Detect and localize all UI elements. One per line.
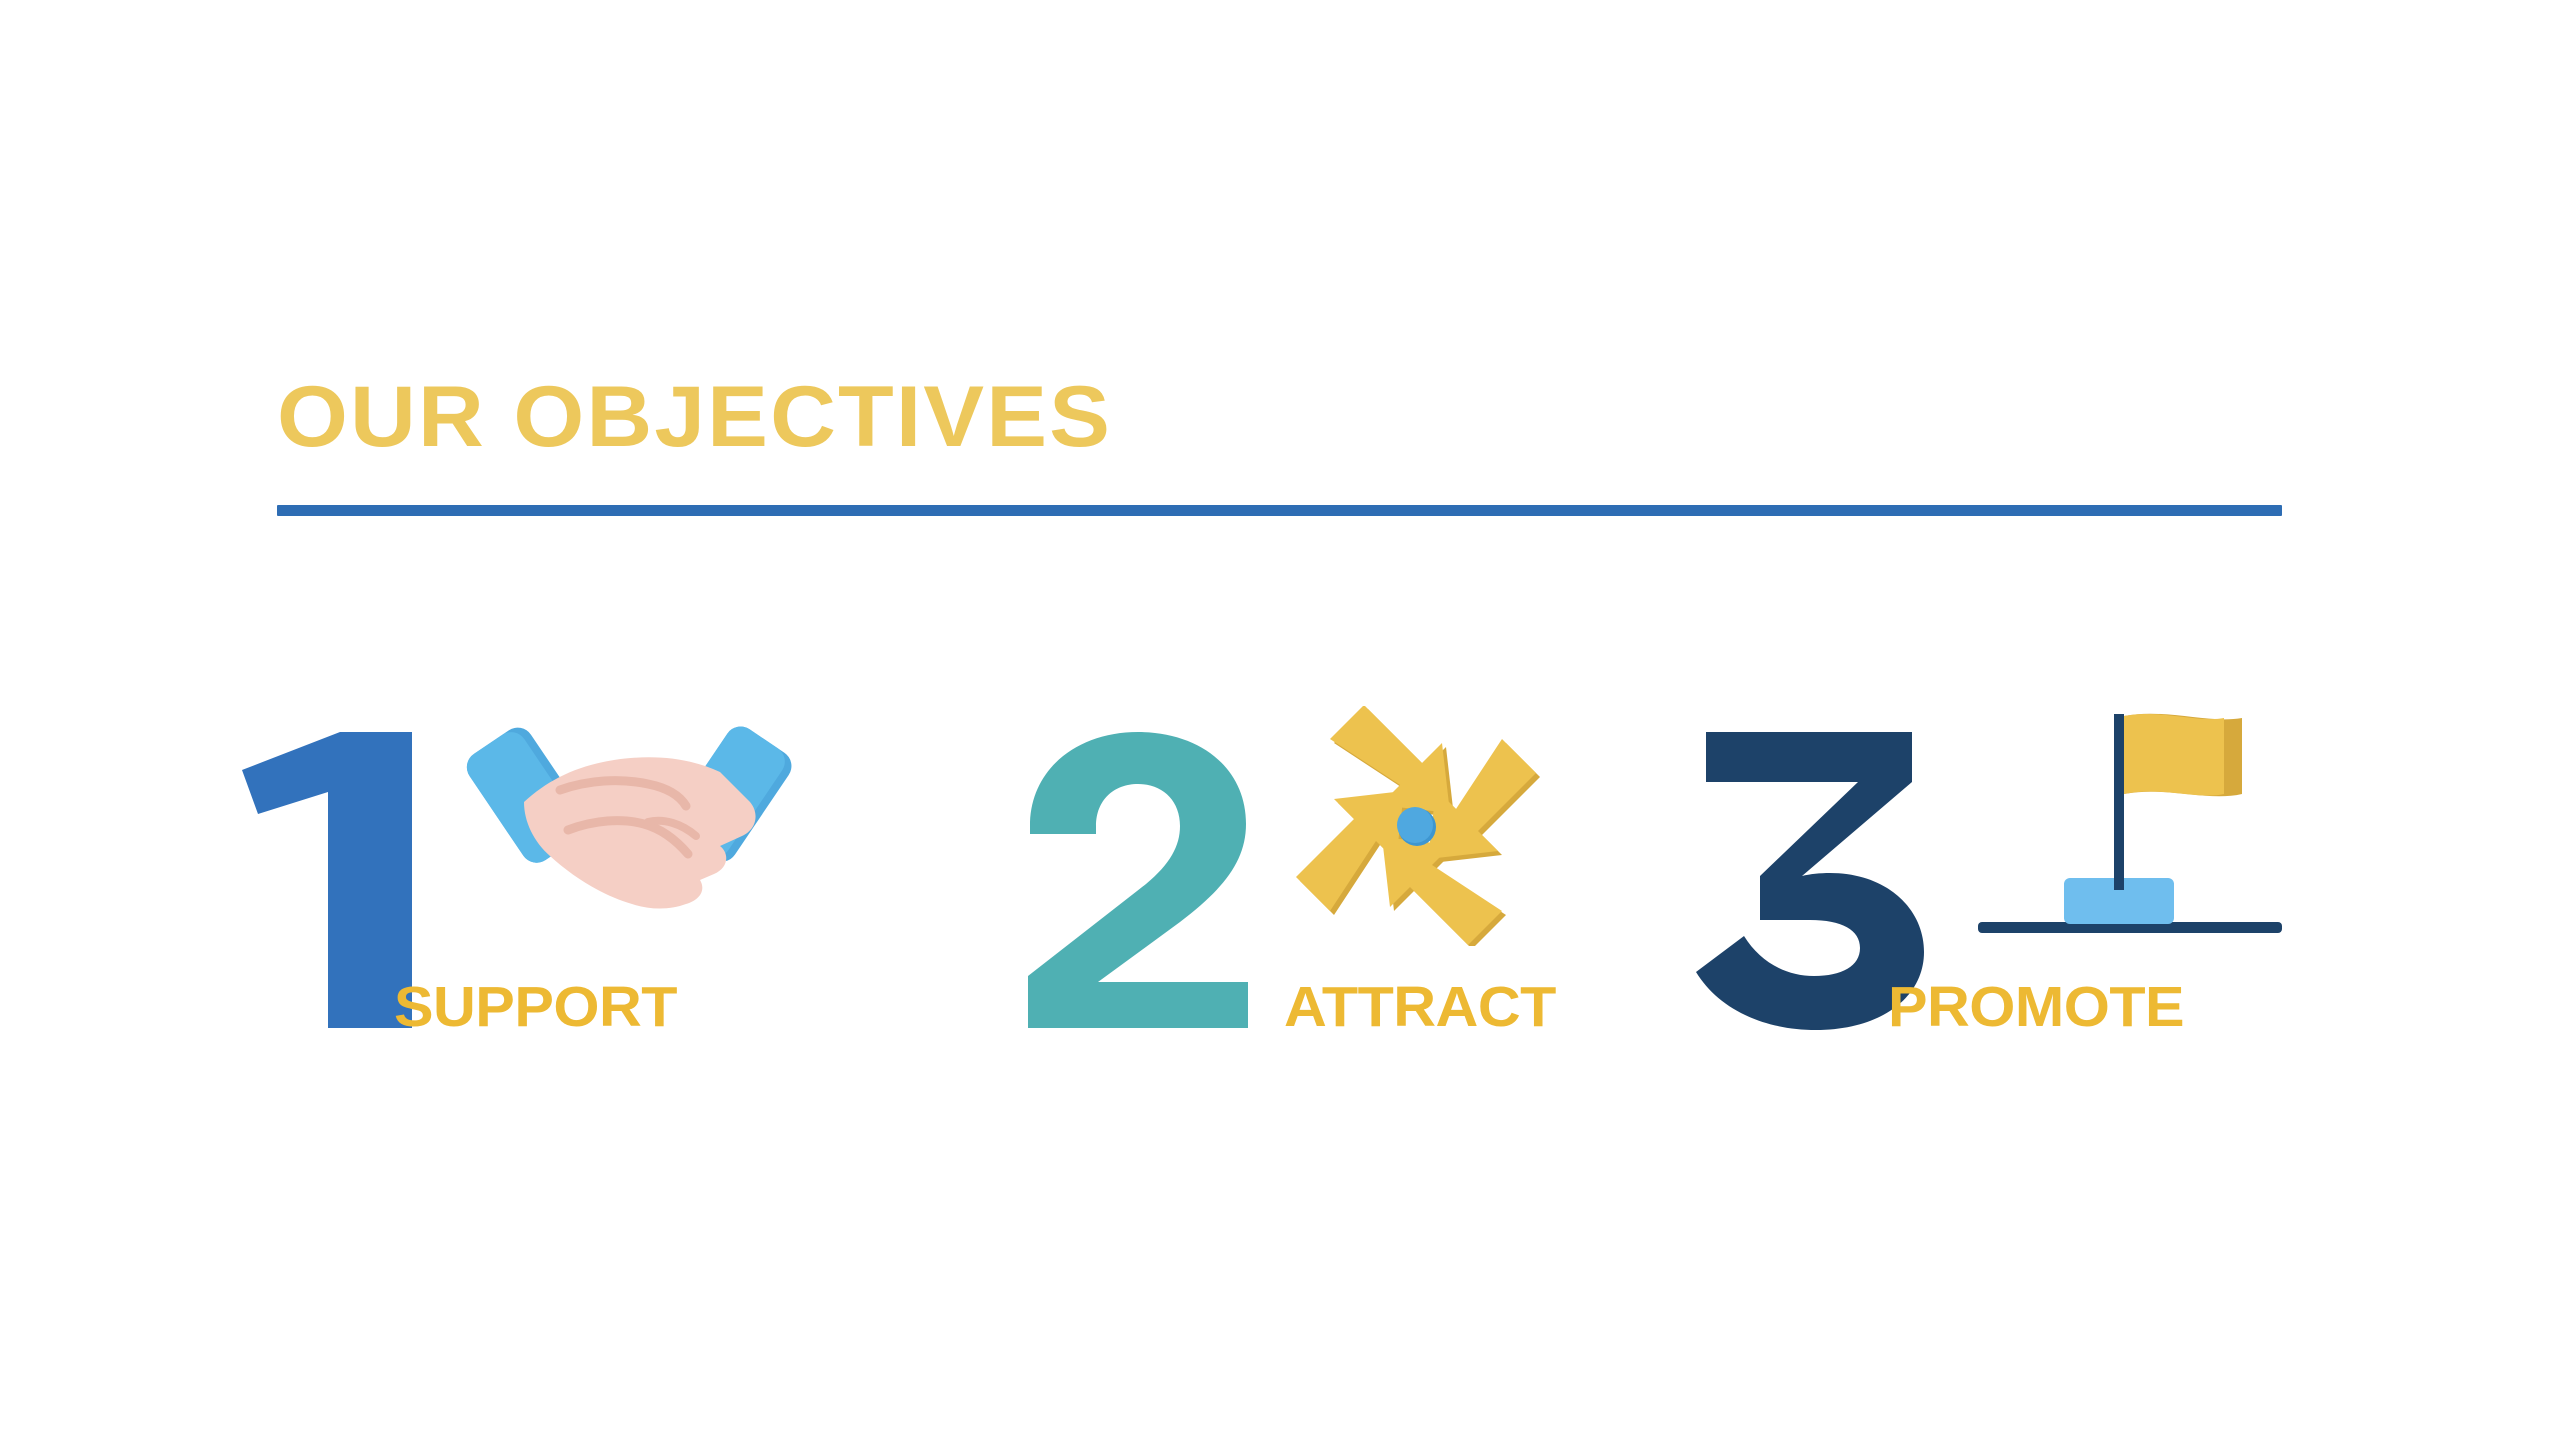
- handshake-icon: [464, 718, 794, 933]
- objective-numeral-2: [1020, 730, 1255, 1030]
- objective-item-2[interactable]: ATTRACT: [1020, 700, 1620, 1030]
- flag-icon: [1970, 706, 2290, 956]
- slide-header: OUR OBJECTIVES: [277, 374, 2282, 460]
- objectives-row: SUPPORT: [0, 700, 2560, 1060]
- objective-item-1[interactable]: SUPPORT: [236, 700, 796, 1030]
- converging-arrows-icon: [1292, 706, 1542, 946]
- slide-canvas: OUR OBJECTIVES: [0, 0, 2560, 1440]
- page-title: OUR OBJECTIVES: [277, 374, 2402, 460]
- objective-item-3[interactable]: PROMOTE: [1690, 700, 2330, 1030]
- title-divider-rule: [277, 505, 2282, 516]
- objective-label-1: SUPPORT: [394, 979, 677, 1036]
- objective-label-2: ATTRACT: [1284, 979, 1556, 1036]
- objective-label-3: PROMOTE: [1888, 979, 2184, 1036]
